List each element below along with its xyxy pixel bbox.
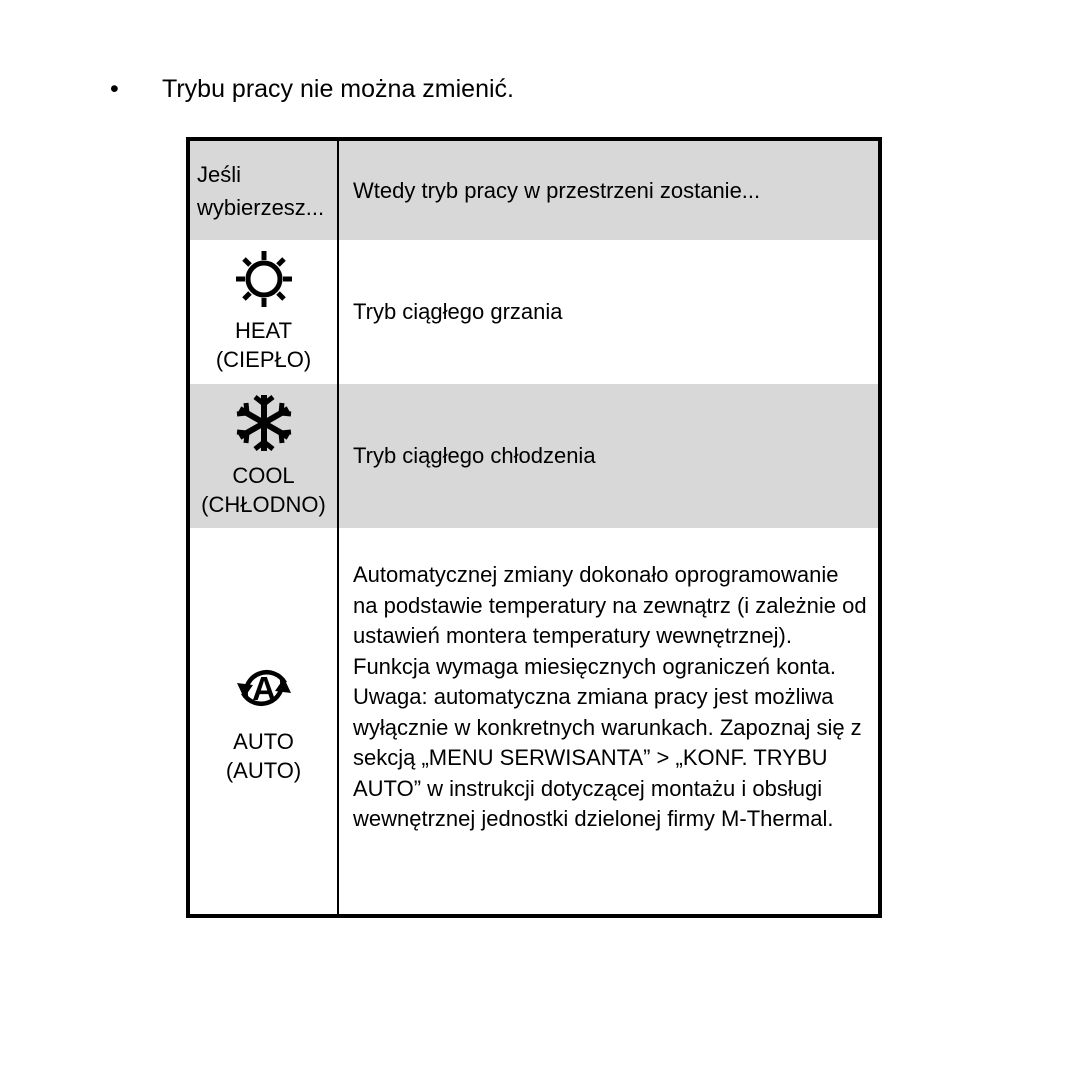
bullet-marker: •: [110, 70, 132, 108]
mode-label-pl: (CHŁODNO): [201, 490, 326, 519]
table-row: A AUTO (AUTO) Automatycznej zmiany dokon…: [190, 528, 878, 914]
mode-description-cell-auto: Automatycznej zmiany dokonało oprogramow…: [337, 528, 878, 914]
table-header-row: Jeśli wybierzesz... Wtedy tryb pracy w p…: [190, 141, 878, 240]
mode-description: Tryb ciągłego grzania: [353, 297, 868, 327]
mode-label-pl: (AUTO): [226, 756, 301, 785]
mode-cell-auto: A AUTO (AUTO): [190, 528, 337, 914]
table-header-cell-left: Jeśli wybierzesz...: [190, 141, 337, 240]
table-column-divider: [337, 141, 339, 914]
table-header-left-label: Jeśli wybierzesz...: [197, 158, 337, 224]
auto-cycle-icon: A: [231, 657, 297, 719]
table-row: HEAT (CIEPŁO) Tryb ciągłego grzania: [190, 240, 878, 384]
mode-label-en: AUTO: [233, 727, 294, 756]
bullet-line: • Trybu pracy nie można zmienić.: [110, 70, 514, 108]
mode-label-pl: (CIEPŁO): [216, 345, 311, 374]
operation-mode-table: Jeśli wybierzesz... Wtedy tryb pracy w p…: [186, 137, 882, 918]
table-header-right-label: Wtedy tryb pracy w przestrzeni zostanie.…: [353, 176, 868, 206]
auto-paragraph-1: Automatycznej zmiany dokonało oprogramow…: [353, 560, 868, 682]
sun-icon: [233, 250, 295, 308]
auto-paragraph-2: Uwaga: automatyczna zmiana pracy jest mo…: [353, 682, 868, 835]
table-row: COOL (CHŁODNO) Tryb ciągłego chłodzenia: [190, 384, 878, 528]
mode-description-cell-cool: Tryb ciągłego chłodzenia: [337, 384, 878, 528]
snowflake-icon: [233, 393, 295, 453]
mode-cell-heat: HEAT (CIEPŁO): [190, 240, 337, 384]
mode-label-en: HEAT: [235, 316, 292, 345]
svg-text:A: A: [252, 670, 276, 707]
mode-label-en: COOL: [232, 461, 294, 490]
mode-description-cell-heat: Tryb ciągłego grzania: [337, 240, 878, 384]
bullet-text: Trybu pracy nie można zmienić.: [162, 70, 514, 108]
mode-description: Tryb ciągłego chłodzenia: [353, 441, 868, 471]
table-header-cell-right: Wtedy tryb pracy w przestrzeni zostanie.…: [337, 141, 878, 240]
mode-cell-cool: COOL (CHŁODNO): [190, 384, 337, 528]
